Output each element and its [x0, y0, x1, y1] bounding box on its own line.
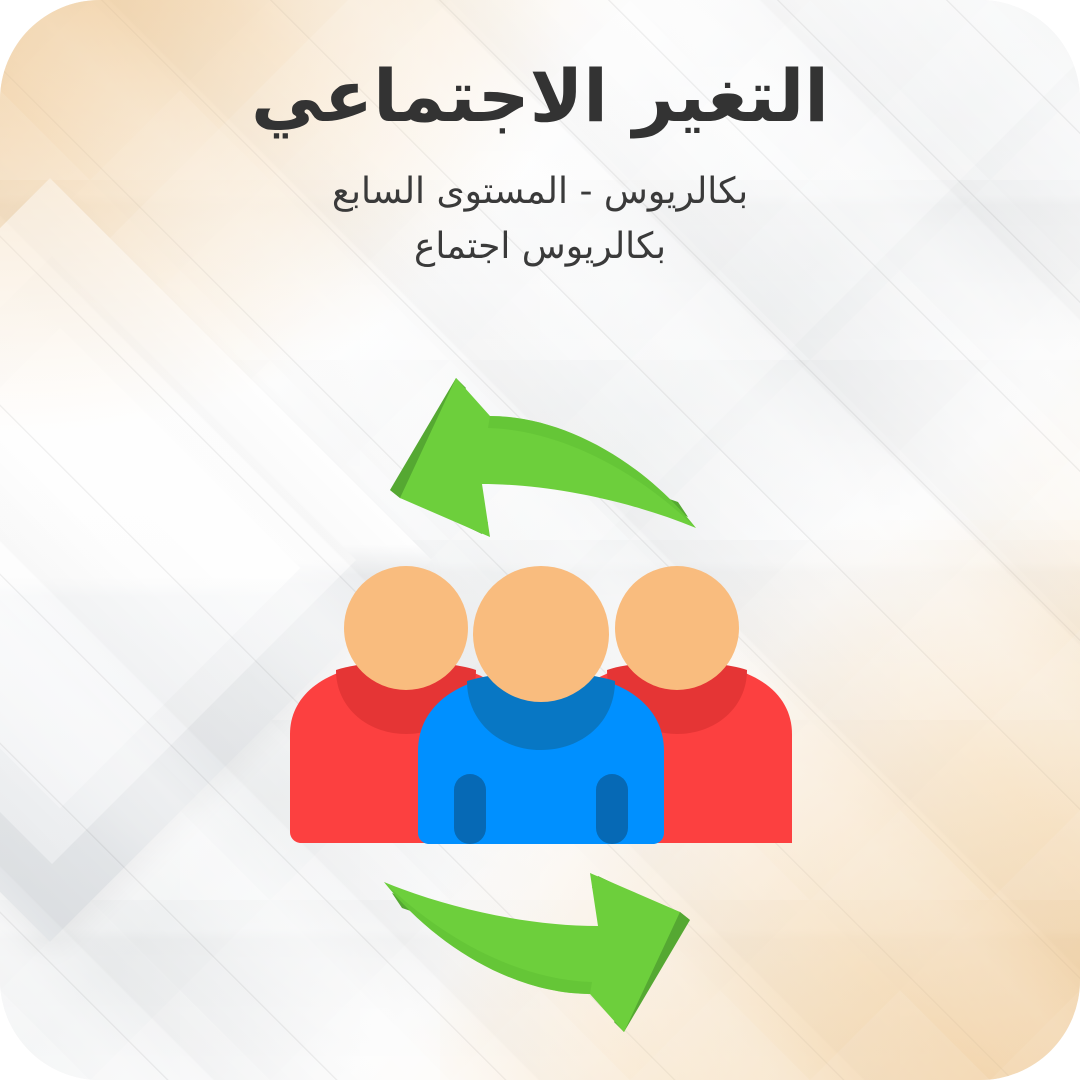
subtitle-line-1: بكالريوس - المستوى السابع [0, 165, 1080, 220]
page-title: التغير الاجتماعي [0, 54, 1080, 139]
subtitle-line-2: بكالريوس اجتماع [0, 220, 1080, 275]
curved-arrow-left-icon [378, 372, 702, 544]
people-group-icon [276, 566, 806, 844]
curved-arrow-right-icon [378, 866, 702, 1038]
header-text-block: التغير الاجتماعي بكالريوس - المستوى السا… [0, 54, 1080, 274]
page-subtitle: بكالريوس - المستوى السابع بكالريوس اجتما… [0, 165, 1080, 274]
poster-card: التغير الاجتماعي بكالريوس - المستوى السا… [0, 0, 1080, 1080]
